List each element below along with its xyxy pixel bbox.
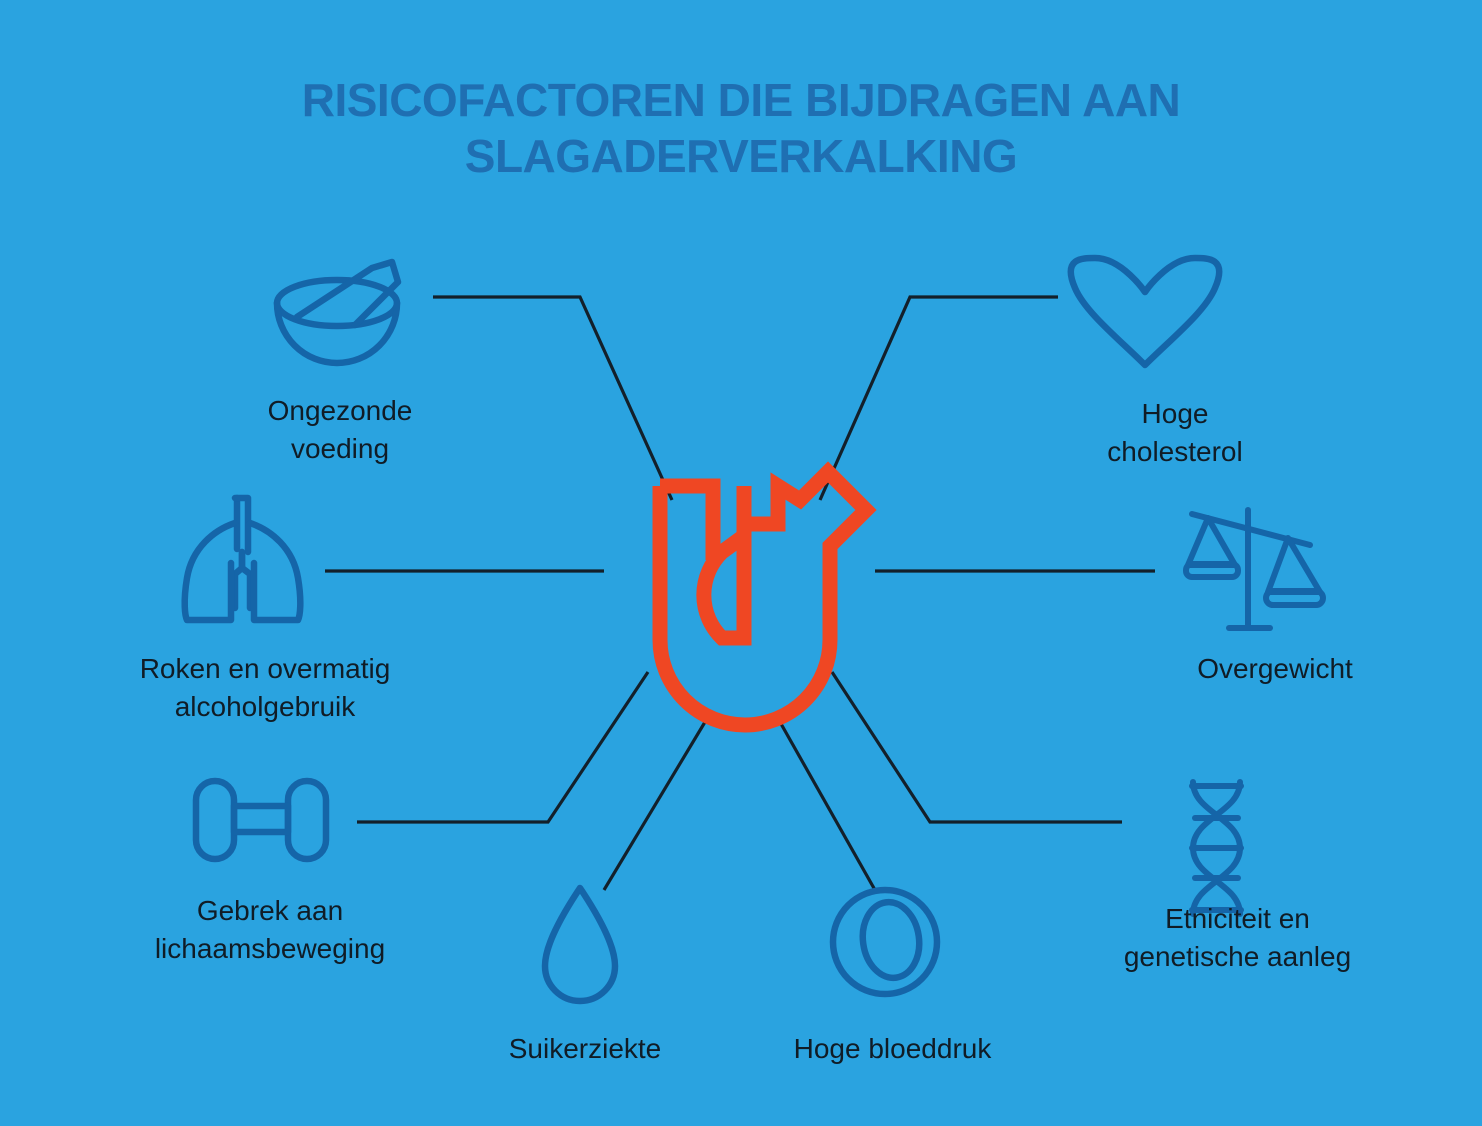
infographic-canvas: RISICOFACTOREN DIE BIJDRAGEN AAN SLAGADE… <box>0 0 1482 1126</box>
label-diabetes: Suikerziekte <box>455 1030 715 1068</box>
label-ethnicity-genetics: Etniciteit en genetische aanleg <box>1040 900 1435 976</box>
label-smoking-alcohol: Roken en overmatig alcoholgebruik <box>60 650 470 726</box>
label-lack-of-exercise: Gebrek aan lichaamsbeweging <box>65 892 475 968</box>
label-high-blood-pressure: Hoge bloeddruk <box>755 1030 1030 1068</box>
label-unhealthy-diet: Ongezonde voeding <box>185 392 495 468</box>
label-overweight: Overgewicht <box>1110 650 1440 688</box>
label-high-cholesterol: Hoge cholesterol <box>1020 395 1330 471</box>
